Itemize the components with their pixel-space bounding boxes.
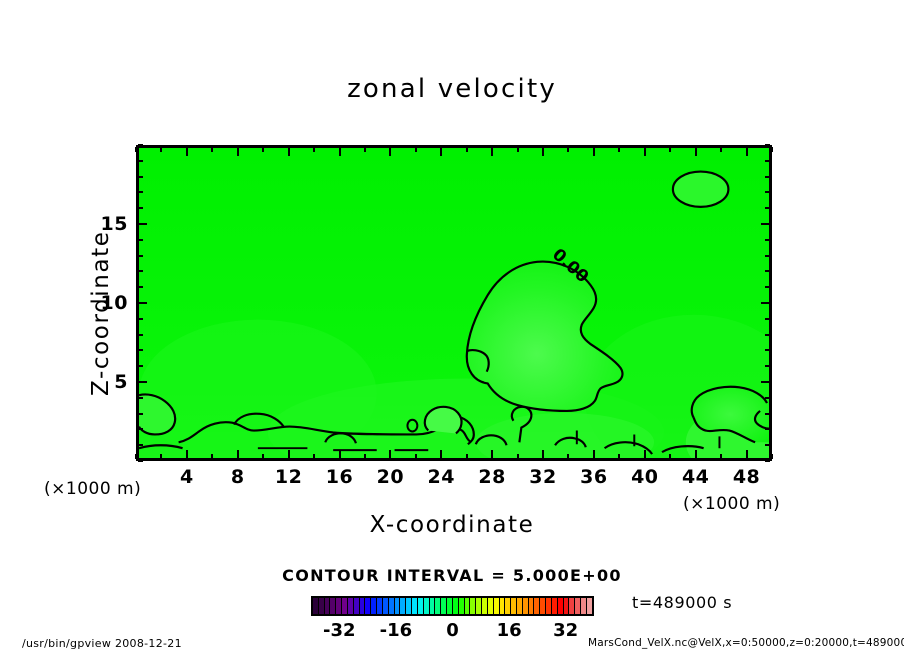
x-tick-label: 24 (428, 466, 455, 488)
y-tick-right (765, 444, 770, 446)
x-tick-top (618, 147, 620, 152)
x-tick-bottom (160, 454, 162, 459)
x-tick-top (440, 147, 442, 156)
x-tick-top (135, 147, 137, 152)
x-tick-top (339, 147, 341, 156)
colorbar-tick-label: 32 (553, 620, 578, 641)
x-tick-top (364, 147, 366, 152)
x-tick-bottom (440, 450, 442, 459)
y-tick-right (765, 270, 770, 272)
x-tick-top (542, 147, 544, 156)
x-tick-bottom (593, 450, 595, 459)
x-tick-label: 32 (529, 466, 556, 488)
y-tick-left (138, 349, 143, 351)
x-tick-bottom (364, 454, 366, 459)
x-tick-bottom (771, 454, 773, 459)
x-tick-bottom (313, 454, 315, 459)
x-tick-label: 4 (180, 466, 194, 488)
y-tick-right (765, 365, 770, 367)
y-tick-left (138, 207, 143, 209)
x-tick-label: 48 (733, 466, 760, 488)
y-tick-right (765, 176, 770, 178)
y-tick-right (765, 239, 770, 241)
x-tick-top (669, 147, 671, 152)
y-tick-left (138, 270, 143, 272)
x-tick-bottom (466, 454, 468, 459)
x-tick-bottom (211, 454, 213, 459)
x-tick-bottom (618, 454, 620, 459)
x-tick-label: 16 (326, 466, 353, 488)
y-tick-right (761, 381, 770, 383)
colorbar-tick-label: -16 (380, 620, 413, 641)
y-tick-label: 15 (101, 213, 128, 235)
x-tick-top (567, 147, 569, 152)
x-tick-bottom (644, 450, 646, 459)
x-tick-top (211, 147, 213, 152)
x-tick-bottom (135, 454, 137, 459)
y-tick-right (765, 286, 770, 288)
x-tick-label: 8 (231, 466, 245, 488)
x-tick-label: 20 (377, 466, 404, 488)
x-tick-label: 28 (478, 466, 505, 488)
x-tick-bottom (186, 450, 188, 459)
y-tick-left (138, 413, 143, 415)
x-unit-left-label: (×1000 m) (44, 479, 141, 499)
x-unit-right-label: (×1000 m) (683, 494, 780, 514)
x-tick-top (695, 147, 697, 156)
y-tick-right (765, 144, 770, 146)
footer-source-label: MarsCond_VelX.nc@VelX,x=0:50000,z=0:2000… (588, 637, 904, 649)
y-tick-left (138, 239, 143, 241)
x-tick-top (160, 147, 162, 152)
y-tick-right (765, 413, 770, 415)
y-tick-right (765, 428, 770, 430)
x-tick-bottom (695, 450, 697, 459)
x-tick-top (517, 147, 519, 152)
x-tick-bottom (746, 450, 748, 459)
x-tick-bottom (288, 450, 290, 459)
x-tick-bottom (669, 454, 671, 459)
x-tick-top (466, 147, 468, 152)
contour-plot-canvas: 0.00 (139, 148, 769, 458)
y-tick-right (765, 207, 770, 209)
x-tick-top (262, 147, 264, 152)
y-tick-right (765, 334, 770, 336)
y-tick-right (765, 255, 770, 257)
y-tick-left (138, 286, 143, 288)
x-tick-bottom (237, 450, 239, 459)
y-tick-left (138, 444, 143, 446)
y-tick-left (138, 176, 143, 178)
x-tick-top (771, 147, 773, 152)
x-tick-bottom (567, 454, 569, 459)
footer-command-label: /usr/bin/gpview 2008-12-21 (22, 637, 182, 650)
x-tick-bottom (517, 454, 519, 459)
x-tick-bottom (339, 450, 341, 459)
contour-interval-label: CONTOUR INTERVAL = 5.000E+00 (0, 566, 904, 585)
y-tick-right (765, 191, 770, 193)
y-tick-left (138, 191, 143, 193)
x-tick-top (288, 147, 290, 156)
x-tick-label: 36 (580, 466, 607, 488)
y-tick-left (138, 302, 147, 304)
x-tick-label: 12 (275, 466, 302, 488)
y-tick-left (138, 381, 147, 383)
y-tick-right (765, 160, 770, 162)
y-tick-right (761, 223, 770, 225)
page-title: zonal velocity (0, 74, 904, 104)
colorbar-cell (587, 598, 592, 614)
x-tick-label: 40 (631, 466, 658, 488)
x-tick-bottom (491, 450, 493, 459)
y-tick-left (138, 334, 143, 336)
y-tick-left (138, 365, 143, 367)
x-tick-top (415, 147, 417, 152)
x-tick-top (186, 147, 188, 156)
y-tick-right (761, 302, 770, 304)
time-label: t=489000 s (632, 593, 732, 612)
y-tick-left (138, 160, 143, 162)
colorbar-tick-label: 16 (497, 620, 522, 641)
y-tick-label: 5 (114, 371, 128, 393)
y-tick-label: 10 (101, 292, 128, 314)
y-tick-right (765, 460, 770, 462)
x-tick-top (746, 147, 748, 156)
y-tick-left (138, 255, 143, 257)
x-tick-label: 44 (682, 466, 709, 488)
x-axis-title: X-coordinate (0, 512, 904, 538)
y-tick-left (138, 144, 143, 146)
colorbar[interactable] (311, 596, 594, 616)
x-tick-bottom (262, 454, 264, 459)
colorbar-tick-label: 0 (446, 620, 459, 641)
x-tick-bottom (720, 454, 722, 459)
y-tick-right (765, 318, 770, 320)
x-tick-top (644, 147, 646, 156)
y-tick-right (765, 349, 770, 351)
y-tick-left (138, 223, 147, 225)
x-tick-top (237, 147, 239, 156)
y-tick-left (138, 428, 143, 430)
x-tick-top (491, 147, 493, 156)
x-tick-bottom (389, 450, 391, 459)
y-tick-left (138, 460, 143, 462)
contour-plot-area: 0.00 (136, 145, 772, 461)
x-tick-top (389, 147, 391, 156)
y-tick-right (765, 397, 770, 399)
x-tick-bottom (415, 454, 417, 459)
colorbar-tick-label: -32 (323, 620, 356, 641)
x-tick-top (593, 147, 595, 156)
y-tick-left (138, 397, 143, 399)
x-tick-bottom (542, 450, 544, 459)
x-tick-top (313, 147, 315, 152)
x-tick-top (720, 147, 722, 152)
y-tick-left (138, 318, 143, 320)
